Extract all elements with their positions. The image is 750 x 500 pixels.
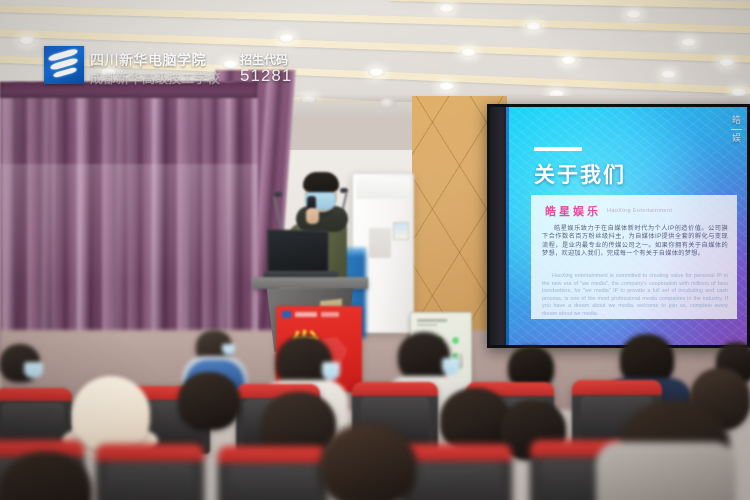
audience-mask [24,362,43,378]
seat [96,444,204,500]
watermark: 四川新华电脑学院 招生代码 成都新华高级技工学校 51281 [44,44,304,92]
watermark-line-2: 成都新华高级技工学校 [90,68,220,87]
sichuan-xinhua-logo-icon [44,46,84,84]
watermark-code-number: 51281 [240,66,292,86]
watermark-line-1: 四川新华电脑学院 [90,50,206,70]
photo-scene: 关于我们 皓星娱乐 HaoXing Entertainment 皓星娱乐致力于在… [0,0,750,500]
audience-body [596,442,736,500]
audience-head [440,388,510,452]
audience-mask [222,344,235,355]
audience-head [320,424,416,500]
audience-head [398,332,450,382]
audience-mask [322,362,340,380]
seat [400,444,512,500]
knit-hat [72,376,150,450]
seat [218,446,328,500]
audience-head [178,372,240,430]
audience-mask [442,358,459,375]
